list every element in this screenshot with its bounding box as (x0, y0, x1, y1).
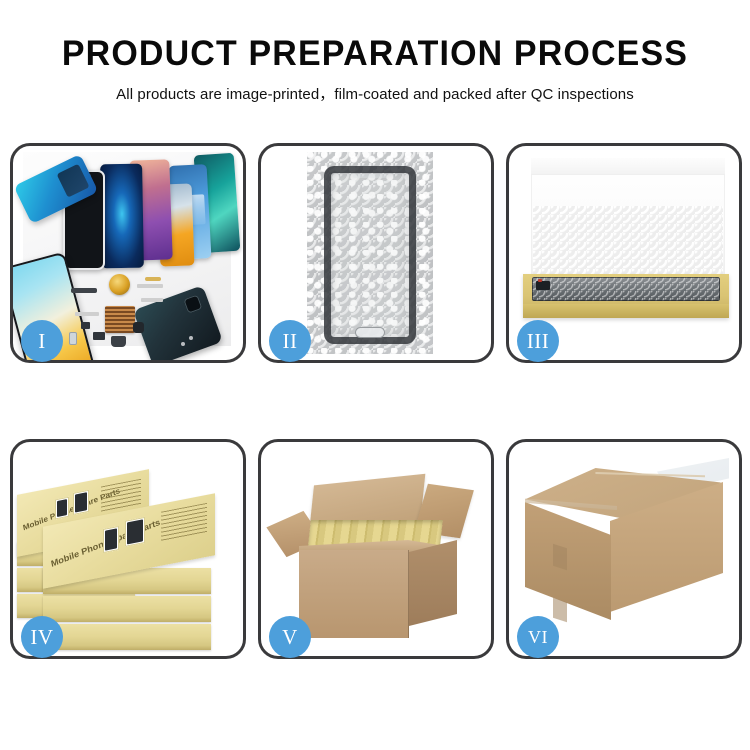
box-window-rear-a (55, 497, 69, 520)
step-badge-v: V (269, 616, 311, 658)
process-step-panel-ii: II (258, 143, 494, 363)
wrapped-phone-screen (324, 166, 416, 344)
part-flex-cable-c (75, 312, 99, 316)
sealed-carton-front-panel (525, 502, 611, 620)
screen-earpiece-slot (353, 174, 387, 178)
phone-dark-starburst (100, 164, 144, 269)
page-header: PRODUCT PREPARATION PROCESS All products… (0, 34, 750, 104)
page-subtitle: All products are image-printed，film-coat… (0, 83, 750, 104)
page-title: PRODUCT PREPARATION PROCESS (11, 34, 739, 74)
box-spec-lines-front (161, 503, 207, 542)
inner-box-front-panel (523, 304, 729, 318)
kraft-inner-box (523, 274, 729, 318)
part-screw-b (189, 336, 193, 340)
screen-home-button-cutout (355, 327, 385, 338)
process-step-panel-vi: VI (506, 439, 742, 659)
carton-seal-mark-lower (553, 598, 567, 623)
part-copper-mesh (105, 306, 135, 333)
stacked-box-r3 (43, 624, 211, 650)
part-speaker (111, 336, 126, 347)
carton-seal-mark-upper (553, 544, 567, 571)
part-chip-a (81, 322, 90, 329)
box-window-front-b (125, 517, 145, 547)
step-badge-i: I (21, 320, 63, 362)
step-badge-iii: III (517, 320, 559, 362)
box-window-rear-b (73, 490, 89, 515)
part-camera-module (133, 322, 144, 333)
part-chip-b (93, 332, 105, 340)
packed-screen-in-box (532, 277, 720, 301)
part-flex-cable-a (137, 284, 163, 288)
bubble-wrap-sheet (307, 152, 433, 354)
process-step-grid: I II (10, 143, 742, 683)
step-badge-ii: II (269, 320, 311, 362)
part-screw-a (181, 342, 185, 346)
process-step-panel-iv: Mobile Phone Spare Parts Mobile Phone Sp… (10, 439, 246, 659)
process-step-panel-i: I (10, 143, 246, 363)
part-sim-tray (69, 332, 77, 345)
process-step-panel-iii: III (506, 143, 742, 363)
box-window-front-a (103, 526, 119, 553)
carton-side-panel (409, 540, 457, 626)
part-flex-cable-b (141, 298, 163, 302)
step-badge-iv: IV (21, 616, 63, 658)
process-step-panel-v: V (258, 439, 494, 659)
step-badge-vi: VI (517, 616, 559, 658)
carton-front-panel (299, 550, 409, 638)
product-preparation-page: PRODUCT PREPARATION PROCESS All products… (0, 0, 750, 750)
foam-padding (533, 206, 723, 278)
stacked-box-r2 (43, 596, 211, 622)
part-button-strip (145, 277, 161, 281)
box-spec-lines-rear (101, 479, 141, 513)
part-antenna-bar (71, 288, 97, 293)
part-vibrator-coil (109, 274, 130, 295)
